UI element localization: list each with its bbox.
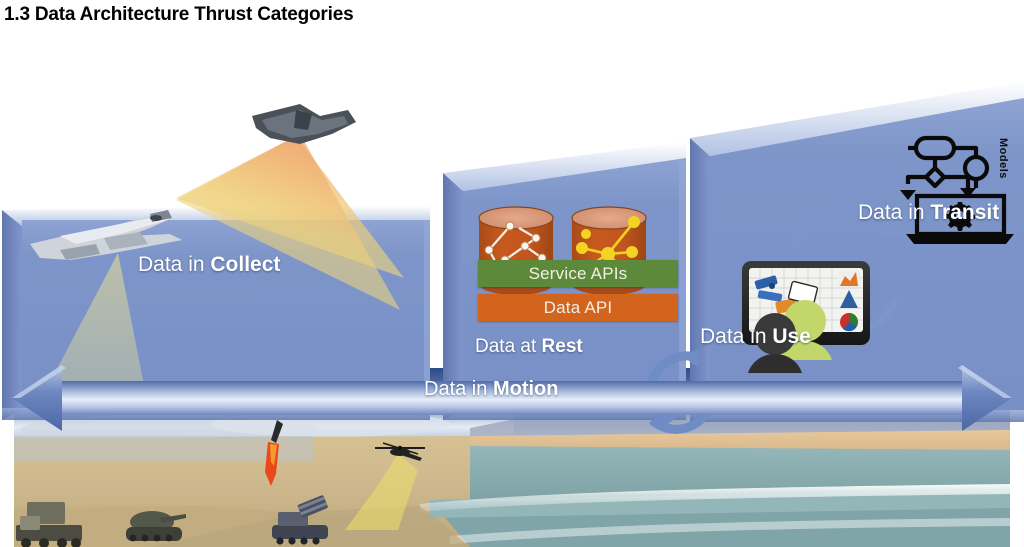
data-api-label: Data API (544, 298, 613, 318)
motion-label-prefix: Data in (424, 378, 493, 400)
diagram-figure: Data in Collect Service APIs Data API Da… (0, 38, 1024, 547)
slide-root: 1.3 Data Architecture Thrust Categories (0, 0, 1024, 547)
page-title: 1.3 Data Architecture Thrust Categories (4, 4, 353, 26)
motion-label-emphasis: Motion (493, 378, 559, 400)
service-apis-bar[interactable]: Service APIs (478, 260, 678, 287)
gear-icon (945, 202, 975, 231)
service-apis-label: Service APIs (529, 264, 628, 284)
icons-layer (0, 38, 1024, 547)
models-label: Models (997, 138, 1009, 179)
data-api-bar[interactable]: Data API (478, 294, 678, 321)
flowchart-models-icon (908, 138, 987, 188)
motion-bar-label: Data in Motion (424, 378, 558, 401)
